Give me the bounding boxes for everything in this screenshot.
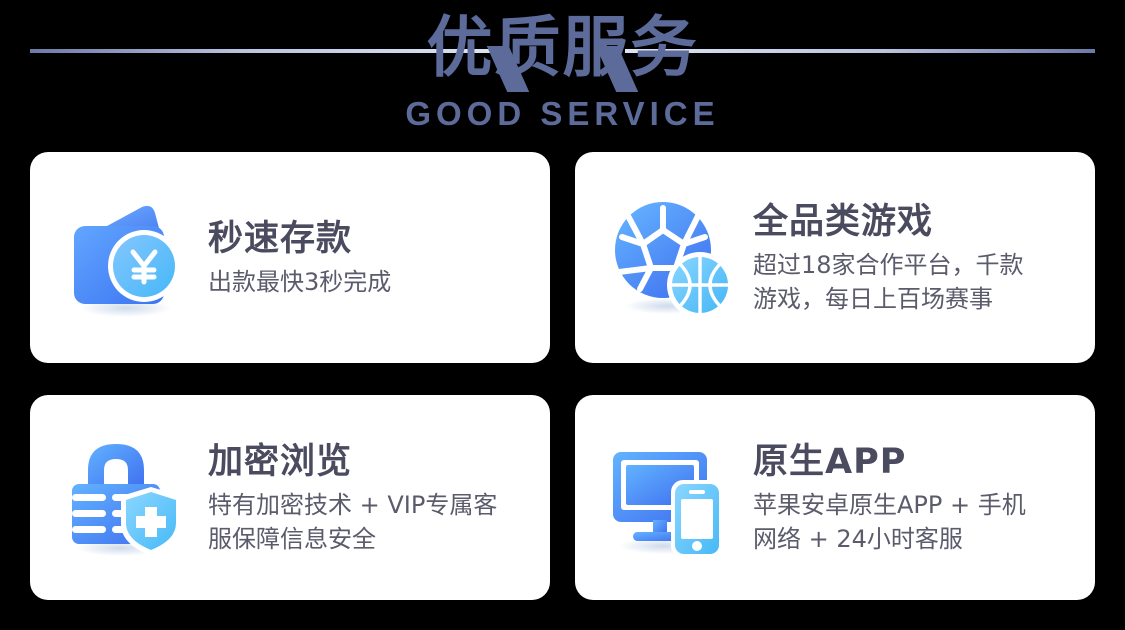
card-subtitle: 苹果安卓原生APP + 手机 网络 + 24小时客服 xyxy=(753,488,1073,556)
card-title: 原生APP xyxy=(753,440,1073,484)
card-subtitle: 出款最快3秒完成 xyxy=(208,265,528,299)
card-subtitle-line: 服保障信息安全 xyxy=(208,522,528,556)
card-title: 秒速存款 xyxy=(208,217,528,261)
page-subtitle: GOOD SERVICE xyxy=(0,96,1125,132)
card-subtitle-line: 出款最快3秒完成 xyxy=(208,265,528,299)
monitor-phone-icon xyxy=(605,432,737,564)
service-feature-banner: 优质服务 GOOD SERVICE xyxy=(0,0,1125,630)
card-subtitle: 特有加密技术 + VIP专属客 服保障信息安全 xyxy=(208,488,528,556)
banner-header: 优质服务 GOOD SERVICE xyxy=(0,0,1125,145)
card-subtitle: 超过18家合作平台，千款 游戏，每日上百场赛事 xyxy=(753,248,1073,316)
card-subtitle-line: 特有加密技术 + VIP专属客 xyxy=(208,488,528,522)
feature-card-encryption[interactable]: 加密浏览 特有加密技术 + VIP专属客 服保障信息安全 xyxy=(30,395,550,600)
card-text-block: 原生APP 苹果安卓原生APP + 手机 网络 + 24小时客服 xyxy=(753,440,1073,556)
card-text-block: 加密浏览 特有加密技术 + VIP专属客 服保障信息安全 xyxy=(208,440,528,556)
card-subtitle-line: 超过18家合作平台，千款 xyxy=(753,248,1073,282)
card-subtitle-line: 苹果安卓原生APP + 手机 xyxy=(753,488,1073,522)
feature-card-native-app[interactable]: 原生APP 苹果安卓原生APP + 手机 网络 + 24小时客服 xyxy=(575,395,1095,600)
wallet-icon xyxy=(60,192,192,324)
card-subtitle-line: 游戏，每日上百场赛事 xyxy=(753,282,1073,316)
feature-card-grid: 秒速存款 出款最快3秒完成 xyxy=(30,152,1095,602)
lock-shield-icon xyxy=(60,432,192,564)
page-title: 优质服务 xyxy=(0,6,1125,90)
feature-card-deposit[interactable]: 秒速存款 出款最快3秒完成 xyxy=(30,152,550,363)
card-title: 全品类游戏 xyxy=(753,200,1073,244)
card-text-block: 秒速存款 出款最快3秒完成 xyxy=(208,217,528,299)
card-text-block: 全品类游戏 超过18家合作平台，千款 游戏，每日上百场赛事 xyxy=(753,200,1073,316)
feature-card-games[interactable]: 全品类游戏 超过18家合作平台，千款 游戏，每日上百场赛事 xyxy=(575,152,1095,363)
card-title: 加密浏览 xyxy=(208,440,528,484)
soccer-basketball-icon xyxy=(605,192,737,324)
card-subtitle-line: 网络 + 24小时客服 xyxy=(753,522,1073,556)
